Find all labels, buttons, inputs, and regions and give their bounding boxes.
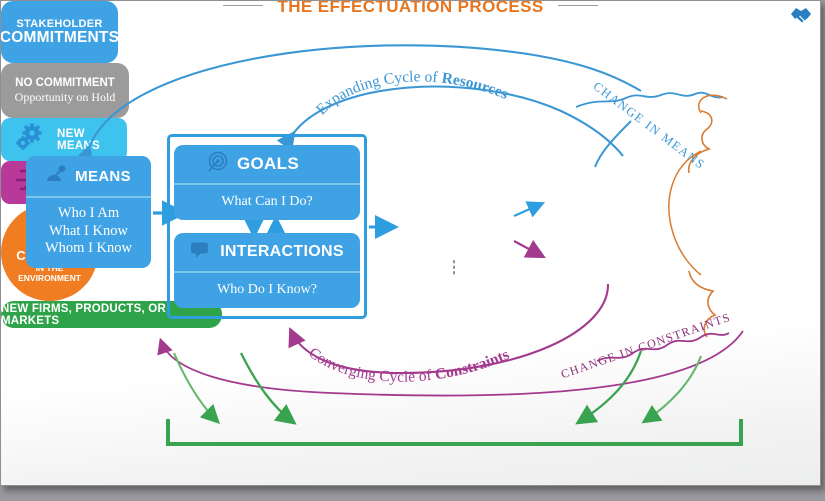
wave-change-in-means <box>595 121 631 167</box>
means-title-row: MEANS <box>26 156 151 198</box>
converging-cycle-label: Converging Cycle of Constraints <box>305 344 511 385</box>
interactions-title: INTERACTIONS <box>220 243 344 261</box>
pin-icon <box>46 165 67 187</box>
page-title-text: THE EFFECTUATION PROCESS <box>277 0 543 16</box>
means-box[interactable]: MEANS Who I Am What I Know Whom I Know <box>26 156 151 268</box>
goals-box[interactable]: GOALS What Can I Do? <box>174 145 360 220</box>
interactions-title-row: INTERACTIONS <box>174 233 360 273</box>
gears-icon <box>15 123 45 156</box>
green-arrow-3 <box>645 356 701 421</box>
expanding-arc-outer <box>89 45 641 148</box>
changes-line-3: ENVIRONMENT <box>18 273 81 283</box>
expanding-cycle-label: Expanding Cycle of Resources <box>313 68 511 118</box>
new-means-box[interactable]: NEW MEANS <box>1 118 127 161</box>
means-line-1: Who I Am <box>26 205 151 223</box>
speech-bubble-icon <box>190 241 212 264</box>
green-arrow-1 <box>174 353 217 421</box>
change-in-constraints-label: CHANGE IN CONSTRAINTS <box>559 310 733 382</box>
change-in-means-label: CHANGE IN MEANS <box>590 79 708 173</box>
no-commitment-box[interactable]: NO COMMITMENT Opportunity on Hold <box>1 63 129 118</box>
green-bracket <box>168 419 741 444</box>
stakeholder-line-2: COMMITMENTS <box>0 29 119 47</box>
target-icon <box>207 151 229 178</box>
diagram-canvas: THE EFFECTUATION PROCESS <box>1 1 820 485</box>
no-commitment-line-1: NO COMMITMENT <box>15 77 115 89</box>
goals-title: GOALS <box>237 154 299 174</box>
interactions-question: Who Do I Know? <box>174 273 360 298</box>
means-line-3: Whom I Know <box>26 240 151 258</box>
title-rule-left <box>223 5 263 6</box>
interactions-box[interactable]: INTERACTIONS Who Do I Know? <box>174 233 360 308</box>
goals-title-row: GOALS <box>174 145 360 185</box>
page-title: THE EFFECTUATION PROCESS <box>1 0 820 17</box>
title-rule-right <box>558 5 598 6</box>
green-arrow-2 <box>241 353 293 422</box>
handshake-icon <box>788 5 814 32</box>
new-means-label: NEW MEANS <box>57 128 127 152</box>
diagram-frame: THE EFFECTUATION PROCESS <box>0 0 821 486</box>
arrow-stakeholder-to-new-means <box>514 204 541 216</box>
means-body: Who I Am What I Know Whom I Know <box>26 198 151 258</box>
goals-question: What Can I Do? <box>174 185 360 210</box>
means-line-2: What I Know <box>26 223 151 241</box>
arrow-stakeholder-to-new-goals <box>514 241 542 256</box>
means-title: MEANS <box>75 168 131 185</box>
orange-hook-top <box>699 95 727 113</box>
no-commitment-line-2: Opportunity on Hold <box>15 90 116 105</box>
